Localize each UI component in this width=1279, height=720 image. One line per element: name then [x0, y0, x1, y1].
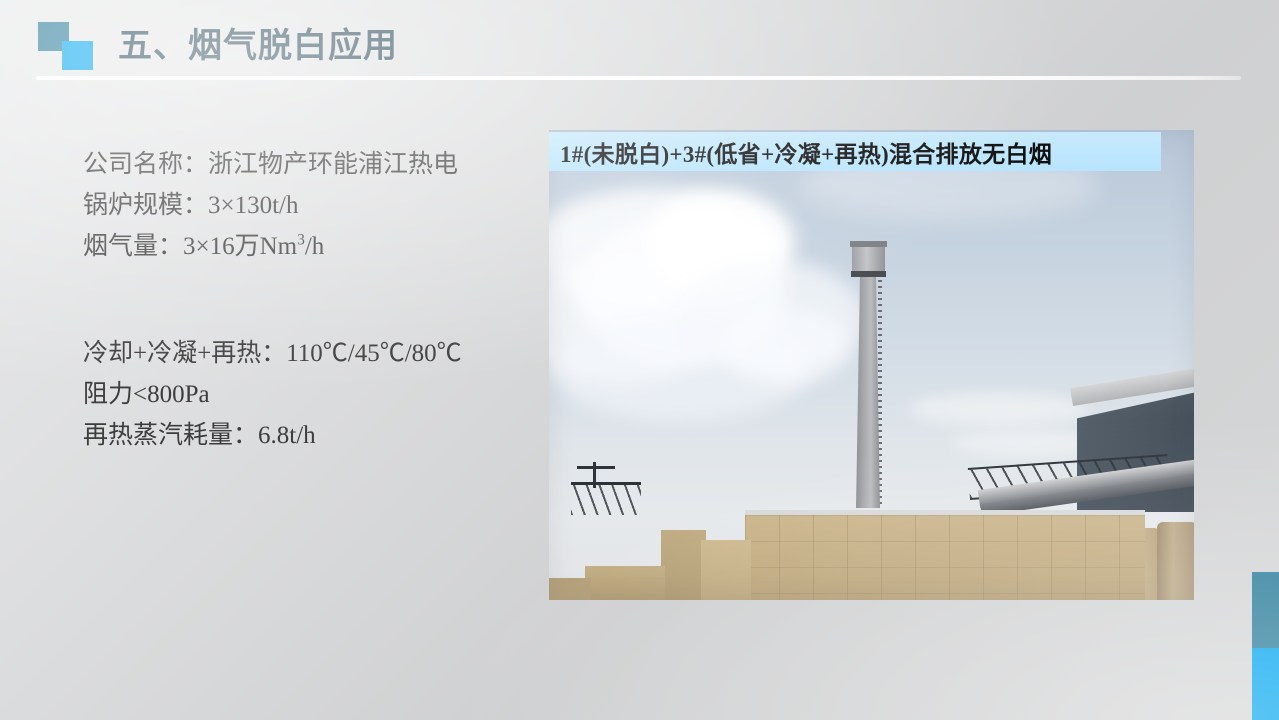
flue-gas-superscript: 3 — [297, 232, 305, 249]
header-square-light-icon — [62, 41, 93, 70]
content-line-company-name: 公司名称：浙江物产环能浦江热电 — [83, 144, 458, 185]
content-line-temperatures: 冷却+冷凝+再热：110℃/45℃/80℃ — [83, 333, 462, 374]
corner-accent-bottom — [1252, 648, 1279, 720]
mast-pole — [577, 462, 615, 488]
flue-gas-label: 烟气量：3×16万Nm — [83, 233, 297, 260]
page-title: 五、烟气脱白应用 — [118, 18, 398, 67]
content-block-parameters: 冷却+冷凝+再热：110℃/45℃/80℃ 阻力<800Pa 再热蒸汽耗量：6.… — [83, 333, 462, 456]
side-building — [549, 578, 591, 600]
slide-canvas: 五、烟气脱白应用 公司名称：浙江物产环能浦江热电 锅炉规模：3×130t/h 烟… — [0, 0, 1279, 720]
content-line-steam-consumption: 再热蒸汽耗量：6.8t/h — [83, 415, 462, 456]
cloud — [909, 392, 1089, 426]
corner-accent-bar — [1252, 572, 1279, 720]
photo-caption-banner: 1#(未脱白)+3#(低省+冷凝+再热)混合排放无白烟 — [549, 132, 1161, 171]
cloud — [949, 430, 1099, 456]
cloud — [721, 306, 851, 386]
silo-tank — [1157, 522, 1194, 600]
main-building — [745, 515, 1145, 600]
content-block-company: 公司名称：浙江物产环能浦江热电 锅炉规模：3×130t/h 烟气量：3×16万N… — [83, 144, 458, 267]
side-building — [585, 566, 665, 600]
plant-photo — [549, 130, 1194, 600]
chimney-rim — [850, 241, 887, 247]
side-building — [701, 540, 751, 600]
content-line-flue-gas-volume: 烟气量：3×16万Nm3/h — [83, 226, 458, 267]
corner-accent-top — [1252, 572, 1279, 648]
flue-gas-tail: /h — [305, 233, 324, 260]
content-line-resistance: 阻力<800Pa — [83, 374, 462, 415]
photo-caption-text: 1#(未脱白)+3#(低省+冷凝+再热)混合排放无白烟 — [560, 135, 1052, 169]
title-divider — [36, 76, 1241, 80]
chimney-band — [851, 271, 886, 277]
side-building — [661, 530, 706, 600]
chimney-cap — [852, 245, 885, 272]
content-line-boiler-scale: 锅炉规模：3×130t/h — [83, 185, 458, 226]
